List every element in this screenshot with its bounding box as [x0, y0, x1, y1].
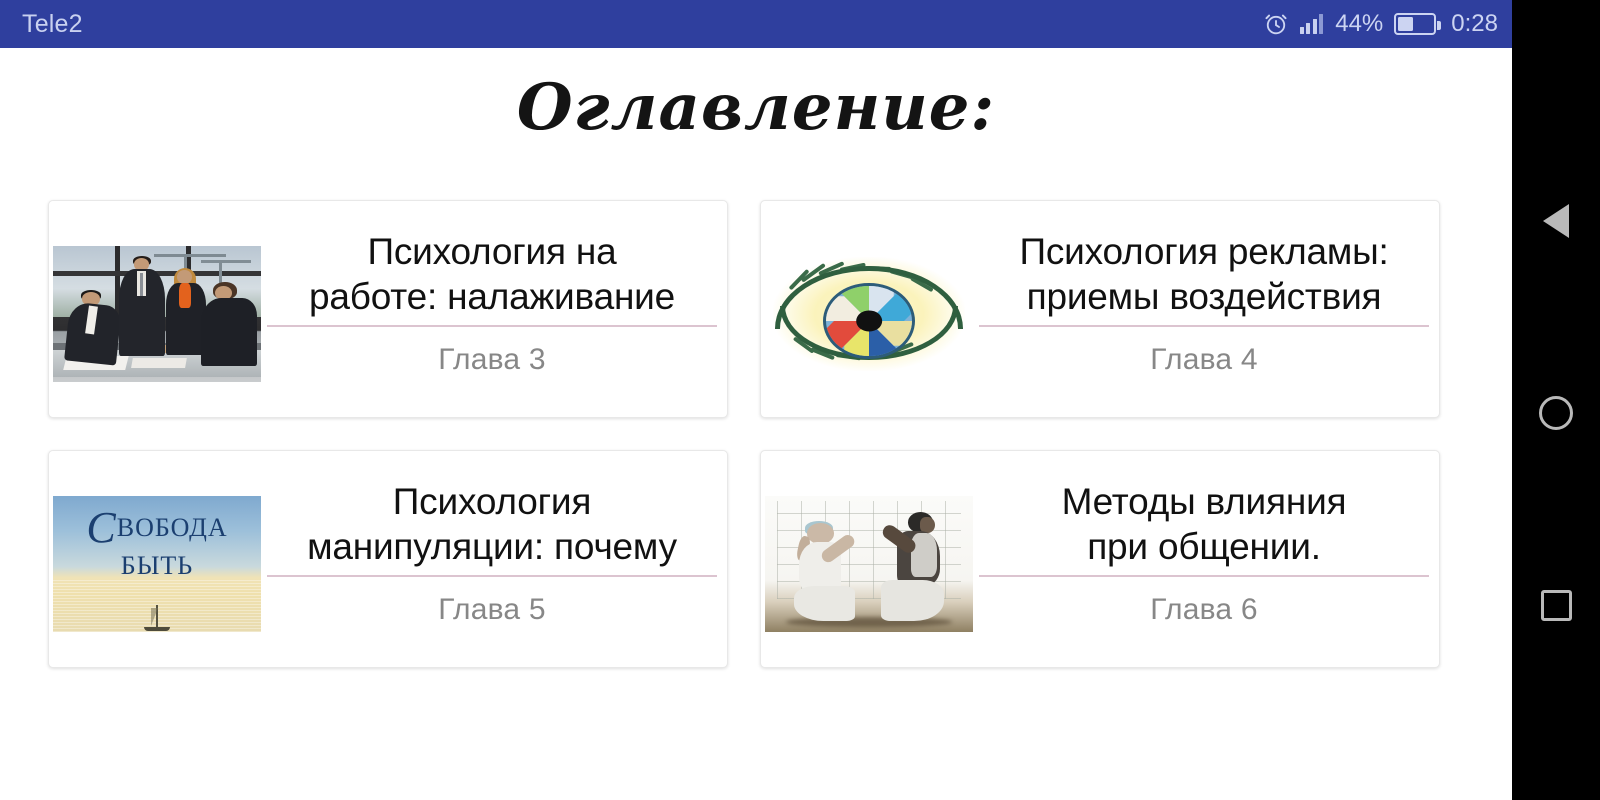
card-divider [267, 575, 717, 577]
chapter-title: Психология рекламы: приемы воздействия [1019, 229, 1388, 319]
chapter-card-grid: Психология на работе: налаживание Глава … [48, 200, 1440, 668]
chapter-thumbnail-yoga [765, 496, 973, 632]
chapter-title: Психология манипуляции: почему [307, 479, 677, 569]
card-body: Психология манипуляции: почему Глава 5 [261, 451, 727, 627]
card-body: Методы влияния при общении. Глава 6 [973, 451, 1439, 627]
cover-line2: БЫТЬ [53, 553, 261, 580]
signal-icon [1300, 14, 1324, 34]
card-body: Психология на работе: налаживание Глава … [261, 201, 727, 377]
status-bar: Tele2 44% 0:28 [0, 0, 1512, 48]
navigation-bar [1512, 0, 1600, 800]
chapter-title: Психология на работе: налаживание [309, 229, 675, 319]
chapter-thumbnail-office [53, 246, 261, 382]
chapter-number: Глава 5 [438, 593, 545, 627]
recents-button[interactable] [1512, 559, 1600, 651]
content-area: Оглавление: [0, 48, 1512, 800]
chapter-number: Глава 4 [1150, 343, 1257, 377]
page-title: Оглавление: [0, 74, 1512, 141]
chapter-card-3[interactable]: Психология на работе: налаживание Глава … [48, 200, 728, 418]
clock-label: 0:28 [1451, 10, 1498, 38]
cover-dropcap: С [86, 503, 116, 552]
home-button[interactable] [1512, 367, 1600, 459]
circle-icon [1539, 396, 1573, 430]
back-button[interactable] [1512, 175, 1600, 267]
chapter-title: Методы влияния при общении. [1062, 479, 1347, 569]
chapter-card-6[interactable]: Методы влияния при общении. Глава 6 [760, 450, 1440, 668]
card-divider [979, 575, 1429, 577]
battery-icon [1394, 13, 1436, 35]
sailboat-icon [144, 605, 170, 631]
book-cover-text: СВОБОДА БЫТЬ [53, 506, 261, 580]
status-icons: 44% 0:28 [1263, 10, 1498, 38]
triangle-left-icon [1543, 204, 1569, 238]
card-divider [267, 325, 717, 327]
phone-screen: Tele2 44% 0:28 Оглавление: [0, 0, 1600, 800]
chapter-number: Глава 6 [1150, 593, 1257, 627]
carrier-label: Tele2 [22, 10, 83, 39]
card-body: Психология рекламы: приемы воздействия Г… [973, 201, 1439, 377]
alarm-icon [1263, 11, 1289, 37]
square-icon [1541, 590, 1572, 621]
battery-percent-label: 44% [1335, 10, 1383, 38]
chapter-number: Глава 3 [438, 343, 545, 377]
chapter-thumbnail-eye [765, 246, 973, 382]
chapter-card-4[interactable]: Психология рекламы: приемы воздействия Г… [760, 200, 1440, 418]
card-divider [979, 325, 1429, 327]
chapter-card-5[interactable]: СВОБОДА БЫТЬ Психология манипуляции: поч… [48, 450, 728, 668]
chapter-thumbnail-book-cover: СВОБОДА БЫТЬ [53, 496, 261, 632]
cover-line1: ВОБОДА [117, 513, 228, 542]
